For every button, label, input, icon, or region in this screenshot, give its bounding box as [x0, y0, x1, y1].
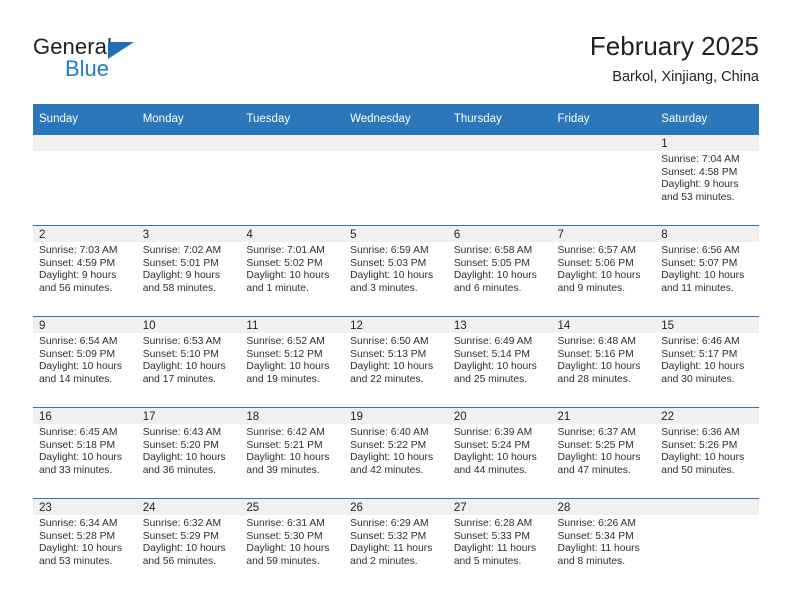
- sunset-text: Sunset: 5:21 PM: [246, 440, 339, 453]
- calendar-header-row: Sunday Monday Tuesday Wednesday Thursday…: [33, 104, 759, 135]
- day-info: Sunrise: 6:59 AMSunset: 5:03 PMDaylight:…: [344, 242, 448, 295]
- day-info: Sunrise: 7:01 AMSunset: 5:02 PMDaylight:…: [240, 242, 344, 295]
- calendar-day-cell[interactable]: 1Sunrise: 7:04 AMSunset: 4:58 PMDaylight…: [655, 135, 759, 226]
- daylight-text: Daylight: 10 hours and 56 minutes.: [143, 543, 236, 568]
- weekday-header-saturday: Saturday: [655, 104, 759, 135]
- sunrise-text: Sunrise: 6:57 AM: [558, 245, 651, 258]
- day-info: Sunrise: 6:37 AMSunset: 5:25 PMDaylight:…: [552, 424, 656, 477]
- day-info: Sunrise: 6:29 AMSunset: 5:32 PMDaylight:…: [344, 515, 448, 568]
- day-info: Sunrise: 6:54 AMSunset: 5:09 PMDaylight:…: [33, 333, 137, 386]
- day-number: 5: [344, 226, 448, 242]
- page-subtitle: Barkol, Xinjiang, China: [590, 67, 759, 87]
- calendar-week-row: 9Sunrise: 6:54 AMSunset: 5:09 PMDaylight…: [33, 317, 759, 408]
- sunrise-text: Sunrise: 6:34 AM: [39, 518, 132, 531]
- daylight-text: Daylight: 10 hours and 1 minute.: [246, 270, 339, 295]
- daylight-text: Daylight: 9 hours and 58 minutes.: [143, 270, 236, 295]
- daylight-text: Daylight: 10 hours and 19 minutes.: [246, 361, 339, 386]
- day-cell-content: 2Sunrise: 7:03 AMSunset: 4:59 PMDaylight…: [33, 226, 137, 316]
- sunrise-text: Sunrise: 6:46 AM: [661, 336, 754, 349]
- calendar-day-cell[interactable]: 16Sunrise: 6:45 AMSunset: 5:18 PMDayligh…: [33, 408, 137, 499]
- daylight-text: Daylight: 10 hours and 30 minutes.: [661, 361, 754, 386]
- sunset-text: Sunset: 5:33 PM: [454, 531, 547, 544]
- calendar-week-row: 16Sunrise: 6:45 AMSunset: 5:18 PMDayligh…: [33, 408, 759, 499]
- calendar-day-cell[interactable]: [344, 135, 448, 226]
- day-info: Sunrise: 6:56 AMSunset: 5:07 PMDaylight:…: [655, 242, 759, 295]
- sunset-text: Sunset: 5:20 PM: [143, 440, 236, 453]
- day-cell-content: 7Sunrise: 6:57 AMSunset: 5:06 PMDaylight…: [552, 226, 656, 316]
- daylight-text: Daylight: 11 hours and 2 minutes.: [350, 543, 443, 568]
- calendar-day-cell[interactable]: 12Sunrise: 6:50 AMSunset: 5:13 PMDayligh…: [344, 317, 448, 408]
- calendar-day-cell[interactable]: 3Sunrise: 7:02 AMSunset: 5:01 PMDaylight…: [137, 226, 241, 317]
- day-number: 4: [240, 226, 344, 242]
- calendar-day-cell[interactable]: 19Sunrise: 6:40 AMSunset: 5:22 PMDayligh…: [344, 408, 448, 499]
- day-number: [344, 135, 448, 151]
- day-cell-content: [448, 135, 552, 225]
- calendar-day-cell[interactable]: 28Sunrise: 6:26 AMSunset: 5:34 PMDayligh…: [552, 499, 656, 590]
- daylight-text: Daylight: 10 hours and 44 minutes.: [454, 452, 547, 477]
- calendar-day-cell[interactable]: 13Sunrise: 6:49 AMSunset: 5:14 PMDayligh…: [448, 317, 552, 408]
- day-number: 9: [33, 317, 137, 333]
- sunset-text: Sunset: 5:05 PM: [454, 258, 547, 271]
- weekday-header-tuesday: Tuesday: [240, 104, 344, 135]
- day-info: Sunrise: 6:48 AMSunset: 5:16 PMDaylight:…: [552, 333, 656, 386]
- sunset-text: Sunset: 5:25 PM: [558, 440, 651, 453]
- calendar-week-row: 23Sunrise: 6:34 AMSunset: 5:28 PMDayligh…: [33, 499, 759, 590]
- calendar-week-row: 2Sunrise: 7:03 AMSunset: 4:59 PMDaylight…: [33, 226, 759, 317]
- day-number: [137, 135, 241, 151]
- day-number: 11: [240, 317, 344, 333]
- calendar-day-cell[interactable]: 2Sunrise: 7:03 AMSunset: 4:59 PMDaylight…: [33, 226, 137, 317]
- sunrise-text: Sunrise: 6:31 AM: [246, 518, 339, 531]
- weekday-header-thursday: Thursday: [448, 104, 552, 135]
- day-info: Sunrise: 6:31 AMSunset: 5:30 PMDaylight:…: [240, 515, 344, 568]
- daylight-text: Daylight: 10 hours and 17 minutes.: [143, 361, 236, 386]
- day-cell-content: 28Sunrise: 6:26 AMSunset: 5:34 PMDayligh…: [552, 499, 656, 589]
- day-number: 16: [33, 408, 137, 424]
- sunset-text: Sunset: 5:28 PM: [39, 531, 132, 544]
- calendar-day-cell[interactable]: 10Sunrise: 6:53 AMSunset: 5:10 PMDayligh…: [137, 317, 241, 408]
- day-cell-content: 15Sunrise: 6:46 AMSunset: 5:17 PMDayligh…: [655, 317, 759, 407]
- day-cell-content: 18Sunrise: 6:42 AMSunset: 5:21 PMDayligh…: [240, 408, 344, 498]
- daylight-text: Daylight: 9 hours and 53 minutes.: [661, 179, 754, 204]
- calendar-day-cell[interactable]: 24Sunrise: 6:32 AMSunset: 5:29 PMDayligh…: [137, 499, 241, 590]
- day-info: Sunrise: 6:43 AMSunset: 5:20 PMDaylight:…: [137, 424, 241, 477]
- sunset-text: Sunset: 5:03 PM: [350, 258, 443, 271]
- day-info: Sunrise: 7:03 AMSunset: 4:59 PMDaylight:…: [33, 242, 137, 295]
- calendar-day-cell[interactable]: 25Sunrise: 6:31 AMSunset: 5:30 PMDayligh…: [240, 499, 344, 590]
- day-number: 14: [552, 317, 656, 333]
- sunrise-text: Sunrise: 6:59 AM: [350, 245, 443, 258]
- day-info: Sunrise: 6:34 AMSunset: 5:28 PMDaylight:…: [33, 515, 137, 568]
- calendar-day-cell[interactable]: 11Sunrise: 6:52 AMSunset: 5:12 PMDayligh…: [240, 317, 344, 408]
- sunrise-text: Sunrise: 7:01 AM: [246, 245, 339, 258]
- sunrise-text: Sunrise: 7:03 AM: [39, 245, 132, 258]
- day-cell-content: [552, 135, 656, 225]
- day-number: 28: [552, 499, 656, 515]
- day-cell-content: 13Sunrise: 6:49 AMSunset: 5:14 PMDayligh…: [448, 317, 552, 407]
- daylight-text: Daylight: 10 hours and 33 minutes.: [39, 452, 132, 477]
- day-number: 3: [137, 226, 241, 242]
- daylight-text: Daylight: 11 hours and 5 minutes.: [454, 543, 547, 568]
- sunrise-text: Sunrise: 6:52 AM: [246, 336, 339, 349]
- day-info: Sunrise: 6:50 AMSunset: 5:13 PMDaylight:…: [344, 333, 448, 386]
- day-cell-content: 14Sunrise: 6:48 AMSunset: 5:16 PMDayligh…: [552, 317, 656, 407]
- sunrise-text: Sunrise: 6:40 AM: [350, 427, 443, 440]
- calendar-day-cell[interactable]: 21Sunrise: 6:37 AMSunset: 5:25 PMDayligh…: [552, 408, 656, 499]
- day-number: 17: [137, 408, 241, 424]
- sunrise-text: Sunrise: 6:28 AM: [454, 518, 547, 531]
- daylight-text: Daylight: 9 hours and 56 minutes.: [39, 270, 132, 295]
- sunset-text: Sunset: 5:26 PM: [661, 440, 754, 453]
- sunset-text: Sunset: 5:34 PM: [558, 531, 651, 544]
- calendar-day-cell[interactable]: 15Sunrise: 6:46 AMSunset: 5:17 PMDayligh…: [655, 317, 759, 408]
- sunrise-text: Sunrise: 6:37 AM: [558, 427, 651, 440]
- day-number: 21: [552, 408, 656, 424]
- day-cell-content: 4Sunrise: 7:01 AMSunset: 5:02 PMDaylight…: [240, 226, 344, 316]
- day-cell-content: 17Sunrise: 6:43 AMSunset: 5:20 PMDayligh…: [137, 408, 241, 498]
- day-cell-content: [655, 499, 759, 589]
- sunrise-text: Sunrise: 6:36 AM: [661, 427, 754, 440]
- day-number: 7: [552, 226, 656, 242]
- calendar-day-cell[interactable]: 6Sunrise: 6:58 AMSunset: 5:05 PMDaylight…: [448, 226, 552, 317]
- calendar-day-cell[interactable]: 5Sunrise: 6:59 AMSunset: 5:03 PMDaylight…: [344, 226, 448, 317]
- daylight-text: Daylight: 10 hours and 47 minutes.: [558, 452, 651, 477]
- day-number: 23: [33, 499, 137, 515]
- day-cell-content: 16Sunrise: 6:45 AMSunset: 5:18 PMDayligh…: [33, 408, 137, 498]
- logo-text-blue: Blue: [65, 56, 109, 82]
- day-cell-content: [344, 135, 448, 225]
- page-title: February 2025: [590, 30, 759, 62]
- sunrise-text: Sunrise: 6:32 AM: [143, 518, 236, 531]
- calendar-day-cell[interactable]: 14Sunrise: 6:48 AMSunset: 5:16 PMDayligh…: [552, 317, 656, 408]
- sunrise-text: Sunrise: 6:26 AM: [558, 518, 651, 531]
- day-info: Sunrise: 7:02 AMSunset: 5:01 PMDaylight:…: [137, 242, 241, 295]
- day-info: Sunrise: 7:04 AMSunset: 4:58 PMDaylight:…: [655, 151, 759, 204]
- sunset-text: Sunset: 5:16 PM: [558, 349, 651, 362]
- day-cell-content: 12Sunrise: 6:50 AMSunset: 5:13 PMDayligh…: [344, 317, 448, 407]
- daylight-text: Daylight: 10 hours and 39 minutes.: [246, 452, 339, 477]
- day-info: Sunrise: 6:45 AMSunset: 5:18 PMDaylight:…: [33, 424, 137, 477]
- day-number: 12: [344, 317, 448, 333]
- calendar-day-cell[interactable]: 7Sunrise: 6:57 AMSunset: 5:06 PMDaylight…: [552, 226, 656, 317]
- sunset-text: Sunset: 5:18 PM: [39, 440, 132, 453]
- day-number: 25: [240, 499, 344, 515]
- sunset-text: Sunset: 5:07 PM: [661, 258, 754, 271]
- day-cell-content: 5Sunrise: 6:59 AMSunset: 5:03 PMDaylight…: [344, 226, 448, 316]
- calendar-grid: Sunday Monday Tuesday Wednesday Thursday…: [33, 104, 759, 589]
- daylight-text: Daylight: 10 hours and 42 minutes.: [350, 452, 443, 477]
- day-number: 8: [655, 226, 759, 242]
- day-number: [655, 499, 759, 515]
- day-cell-content: 9Sunrise: 6:54 AMSunset: 5:09 PMDaylight…: [33, 317, 137, 407]
- day-number: [33, 135, 137, 151]
- sunset-text: Sunset: 5:12 PM: [246, 349, 339, 362]
- sunrise-text: Sunrise: 6:56 AM: [661, 245, 754, 258]
- calendar-week-row: 1Sunrise: 7:04 AMSunset: 4:58 PMDaylight…: [33, 135, 759, 226]
- daylight-text: Daylight: 10 hours and 6 minutes.: [454, 270, 547, 295]
- day-cell-content: 26Sunrise: 6:29 AMSunset: 5:32 PMDayligh…: [344, 499, 448, 589]
- day-number: 6: [448, 226, 552, 242]
- sunset-text: Sunset: 5:13 PM: [350, 349, 443, 362]
- day-number: 26: [344, 499, 448, 515]
- sunrise-text: Sunrise: 6:50 AM: [350, 336, 443, 349]
- sunrise-text: Sunrise: 6:54 AM: [39, 336, 132, 349]
- calendar-day-cell[interactable]: 23Sunrise: 6:34 AMSunset: 5:28 PMDayligh…: [33, 499, 137, 590]
- calendar-day-cell[interactable]: 4Sunrise: 7:01 AMSunset: 5:02 PMDaylight…: [240, 226, 344, 317]
- sunrise-text: Sunrise: 7:02 AM: [143, 245, 236, 258]
- page-header: General Blue February 2025 Barkol, Xinji…: [33, 30, 759, 102]
- logo-triangle-icon: [108, 42, 134, 59]
- title-block: February 2025 Barkol, Xinjiang, China: [590, 30, 759, 87]
- sunset-text: Sunset: 5:02 PM: [246, 258, 339, 271]
- day-cell-content: [137, 135, 241, 225]
- day-cell-content: 1Sunrise: 7:04 AMSunset: 4:58 PMDaylight…: [655, 135, 759, 225]
- day-info: Sunrise: 6:42 AMSunset: 5:21 PMDaylight:…: [240, 424, 344, 477]
- sunset-text: Sunset: 5:01 PM: [143, 258, 236, 271]
- day-info: Sunrise: 6:39 AMSunset: 5:24 PMDaylight:…: [448, 424, 552, 477]
- day-cell-content: 8Sunrise: 6:56 AMSunset: 5:07 PMDaylight…: [655, 226, 759, 316]
- day-number: 15: [655, 317, 759, 333]
- daylight-text: Daylight: 10 hours and 53 minutes.: [39, 543, 132, 568]
- day-number: 13: [448, 317, 552, 333]
- daylight-text: Daylight: 10 hours and 11 minutes.: [661, 270, 754, 295]
- day-cell-content: 21Sunrise: 6:37 AMSunset: 5:25 PMDayligh…: [552, 408, 656, 498]
- sunrise-text: Sunrise: 7:04 AM: [661, 154, 754, 167]
- sunset-text: Sunset: 5:10 PM: [143, 349, 236, 362]
- sunrise-text: Sunrise: 6:42 AM: [246, 427, 339, 440]
- general-blue-logo: General Blue: [33, 34, 193, 86]
- daylight-text: Daylight: 10 hours and 59 minutes.: [246, 543, 339, 568]
- sunset-text: Sunset: 5:09 PM: [39, 349, 132, 362]
- day-number: 22: [655, 408, 759, 424]
- sunset-text: Sunset: 5:14 PM: [454, 349, 547, 362]
- day-cell-content: 3Sunrise: 7:02 AMSunset: 5:01 PMDaylight…: [137, 226, 241, 316]
- calendar-day-cell[interactable]: 22Sunrise: 6:36 AMSunset: 5:26 PMDayligh…: [655, 408, 759, 499]
- calendar-day-cell[interactable]: [448, 135, 552, 226]
- sunset-text: Sunset: 4:59 PM: [39, 258, 132, 271]
- calendar-day-cell[interactable]: 8Sunrise: 6:56 AMSunset: 5:07 PMDaylight…: [655, 226, 759, 317]
- day-number: 10: [137, 317, 241, 333]
- calendar-day-cell[interactable]: 9Sunrise: 6:54 AMSunset: 5:09 PMDaylight…: [33, 317, 137, 408]
- calendar-day-cell[interactable]: 27Sunrise: 6:28 AMSunset: 5:33 PMDayligh…: [448, 499, 552, 590]
- day-cell-content: 25Sunrise: 6:31 AMSunset: 5:30 PMDayligh…: [240, 499, 344, 589]
- calendar-day-cell[interactable]: [552, 135, 656, 226]
- calendar-day-cell[interactable]: [655, 499, 759, 590]
- calendar-day-cell[interactable]: [240, 135, 344, 226]
- day-number: [448, 135, 552, 151]
- calendar-day-cell[interactable]: 18Sunrise: 6:42 AMSunset: 5:21 PMDayligh…: [240, 408, 344, 499]
- daylight-text: Daylight: 10 hours and 3 minutes.: [350, 270, 443, 295]
- day-info: Sunrise: 6:40 AMSunset: 5:22 PMDaylight:…: [344, 424, 448, 477]
- day-cell-content: 20Sunrise: 6:39 AMSunset: 5:24 PMDayligh…: [448, 408, 552, 498]
- day-cell-content: [33, 135, 137, 225]
- day-cell-content: 24Sunrise: 6:32 AMSunset: 5:29 PMDayligh…: [137, 499, 241, 589]
- day-info: Sunrise: 6:52 AMSunset: 5:12 PMDaylight:…: [240, 333, 344, 386]
- sunset-text: Sunset: 5:06 PM: [558, 258, 651, 271]
- calendar-page: General Blue February 2025 Barkol, Xinji…: [0, 0, 792, 612]
- day-cell-content: 23Sunrise: 6:34 AMSunset: 5:28 PMDayligh…: [33, 499, 137, 589]
- sunrise-text: Sunrise: 6:48 AM: [558, 336, 651, 349]
- sunrise-text: Sunrise: 6:29 AM: [350, 518, 443, 531]
- day-info: Sunrise: 6:28 AMSunset: 5:33 PMDaylight:…: [448, 515, 552, 568]
- day-info: Sunrise: 6:46 AMSunset: 5:17 PMDaylight:…: [655, 333, 759, 386]
- day-cell-content: 11Sunrise: 6:52 AMSunset: 5:12 PMDayligh…: [240, 317, 344, 407]
- day-cell-content: 27Sunrise: 6:28 AMSunset: 5:33 PMDayligh…: [448, 499, 552, 589]
- weekday-header-sunday: Sunday: [33, 104, 137, 135]
- daylight-text: Daylight: 10 hours and 22 minutes.: [350, 361, 443, 386]
- calendar-day-cell[interactable]: 17Sunrise: 6:43 AMSunset: 5:20 PMDayligh…: [137, 408, 241, 499]
- calendar-day-cell[interactable]: [33, 135, 137, 226]
- sunset-text: Sunset: 5:22 PM: [350, 440, 443, 453]
- sunset-text: Sunset: 5:24 PM: [454, 440, 547, 453]
- sunrise-text: Sunrise: 6:58 AM: [454, 245, 547, 258]
- sunset-text: Sunset: 5:29 PM: [143, 531, 236, 544]
- weekday-header-friday: Friday: [552, 104, 656, 135]
- daylight-text: Daylight: 10 hours and 36 minutes.: [143, 452, 236, 477]
- day-info: Sunrise: 6:49 AMSunset: 5:14 PMDaylight:…: [448, 333, 552, 386]
- sunrise-text: Sunrise: 6:53 AM: [143, 336, 236, 349]
- day-number: [240, 135, 344, 151]
- sunrise-text: Sunrise: 6:49 AM: [454, 336, 547, 349]
- day-cell-content: 22Sunrise: 6:36 AMSunset: 5:26 PMDayligh…: [655, 408, 759, 498]
- day-info: Sunrise: 6:26 AMSunset: 5:34 PMDaylight:…: [552, 515, 656, 568]
- day-info: Sunrise: 6:53 AMSunset: 5:10 PMDaylight:…: [137, 333, 241, 386]
- sunrise-text: Sunrise: 6:45 AM: [39, 427, 132, 440]
- day-number: 27: [448, 499, 552, 515]
- day-info: Sunrise: 6:57 AMSunset: 5:06 PMDaylight:…: [552, 242, 656, 295]
- sunrise-text: Sunrise: 6:43 AM: [143, 427, 236, 440]
- sunset-text: Sunset: 5:17 PM: [661, 349, 754, 362]
- day-number: 19: [344, 408, 448, 424]
- weekday-header-wednesday: Wednesday: [344, 104, 448, 135]
- sunset-text: Sunset: 5:32 PM: [350, 531, 443, 544]
- day-number: 20: [448, 408, 552, 424]
- sunrise-text: Sunrise: 6:39 AM: [454, 427, 547, 440]
- day-info: Sunrise: 6:58 AMSunset: 5:05 PMDaylight:…: [448, 242, 552, 295]
- day-number: 1: [655, 135, 759, 151]
- day-info: Sunrise: 6:32 AMSunset: 5:29 PMDaylight:…: [137, 515, 241, 568]
- daylight-text: Daylight: 10 hours and 50 minutes.: [661, 452, 754, 477]
- day-number: 18: [240, 408, 344, 424]
- weekday-header-monday: Monday: [137, 104, 241, 135]
- day-number: [552, 135, 656, 151]
- day-info: Sunrise: 6:36 AMSunset: 5:26 PMDaylight:…: [655, 424, 759, 477]
- calendar-day-cell[interactable]: 26Sunrise: 6:29 AMSunset: 5:32 PMDayligh…: [344, 499, 448, 590]
- day-cell-content: 6Sunrise: 6:58 AMSunset: 5:05 PMDaylight…: [448, 226, 552, 316]
- daylight-text: Daylight: 10 hours and 25 minutes.: [454, 361, 547, 386]
- day-cell-content: 10Sunrise: 6:53 AMSunset: 5:10 PMDayligh…: [137, 317, 241, 407]
- sunset-text: Sunset: 5:30 PM: [246, 531, 339, 544]
- daylight-text: Daylight: 11 hours and 8 minutes.: [558, 543, 651, 568]
- day-number: 24: [137, 499, 241, 515]
- day-cell-content: [240, 135, 344, 225]
- day-cell-content: 19Sunrise: 6:40 AMSunset: 5:22 PMDayligh…: [344, 408, 448, 498]
- day-number: 2: [33, 226, 137, 242]
- calendar-day-cell[interactable]: [137, 135, 241, 226]
- sunset-text: Sunset: 4:58 PM: [661, 167, 754, 180]
- calendar-body: 1Sunrise: 7:04 AMSunset: 4:58 PMDaylight…: [33, 135, 759, 590]
- daylight-text: Daylight: 10 hours and 9 minutes.: [558, 270, 651, 295]
- daylight-text: Daylight: 10 hours and 14 minutes.: [39, 361, 132, 386]
- calendar-day-cell[interactable]: 20Sunrise: 6:39 AMSunset: 5:24 PMDayligh…: [448, 408, 552, 499]
- daylight-text: Daylight: 10 hours and 28 minutes.: [558, 361, 651, 386]
